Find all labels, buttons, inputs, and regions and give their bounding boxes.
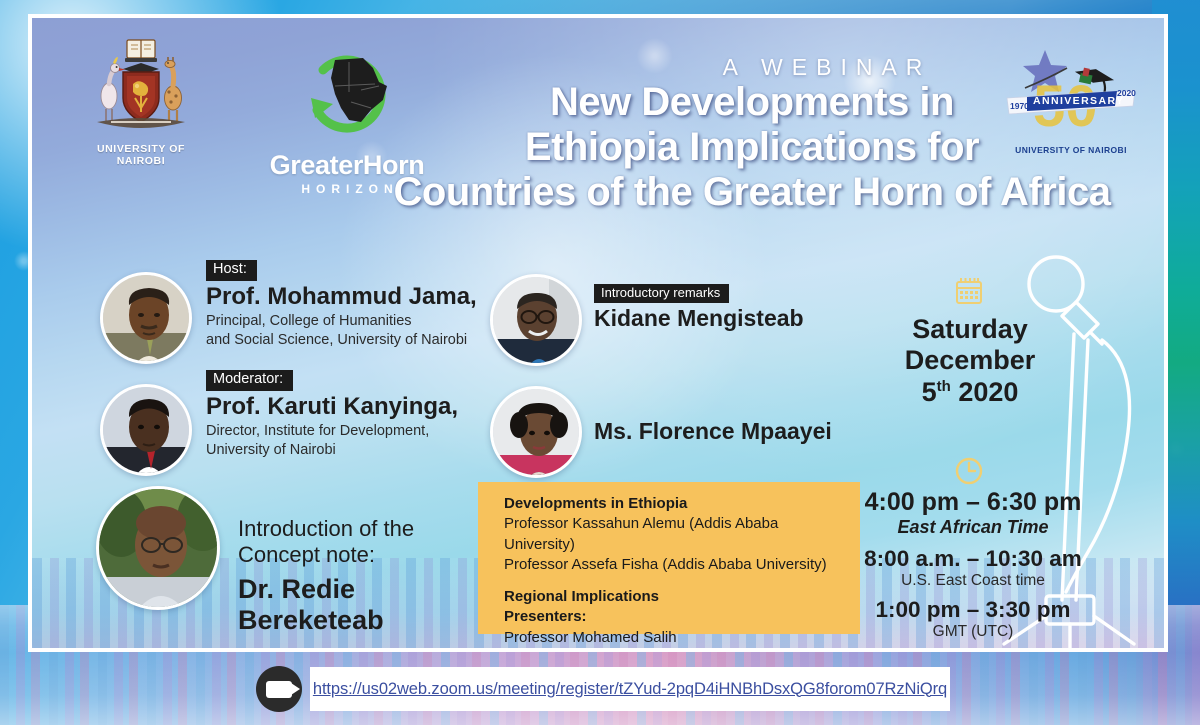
role-badge: Introductory remarks: [594, 284, 729, 303]
avatar: [100, 384, 192, 476]
poster-frame: UNIVERSITY OF NAIROBI GreaterHorn HORIZO…: [28, 14, 1168, 652]
event-date-month: December: [880, 345, 1060, 376]
time-slot-2: 8:00 a.m. – 10:30 am: [858, 546, 1088, 572]
programme-section-2-subtitle: Presenters:: [504, 607, 846, 627]
event-date-daynum-year: 5th 2020: [880, 377, 1060, 408]
university-of-nairobi-logo: UNIVERSITY OF NAIROBI: [80, 36, 202, 167]
programme-section-2-line-2: Professor Karuti Kanyinga: [504, 648, 846, 652]
time-zone-1: East African Time: [858, 517, 1088, 539]
camera-glyph: [266, 681, 292, 698]
speaker-affiliation-line-1: Principal, College of Humanities: [206, 312, 477, 330]
role-badge: Moderator:: [206, 370, 293, 391]
speaker-affiliation-line-2: University of Nairobi: [206, 441, 458, 459]
title-line-2: Ethiopia Implications for: [362, 125, 1142, 170]
programme-box: Developments in Ethiopia Professor Kassa…: [478, 482, 860, 634]
page-title: New Developments in Ethiopia Implication…: [362, 80, 1142, 216]
calendar-icon: [954, 276, 984, 306]
webinar-poster: UNIVERSITY OF NAIROBI GreaterHorn HORIZO…: [0, 0, 1200, 725]
speaker-name: Kidane Mengisteab: [594, 306, 804, 332]
zoom-video-icon: [256, 666, 302, 712]
time-zone-2: U.S. East Coast time: [858, 572, 1088, 591]
speaker-name: Prof. Mohammud Jama,: [206, 284, 477, 311]
event-date: Saturday December 5th 2020: [880, 314, 1060, 408]
programme-section-2-line-1: Professor Mohamed Salih: [504, 628, 846, 648]
speaker-florence-text: Ms. Florence Mpaayei: [594, 416, 832, 445]
speaker-affiliation-line-2: and Social Science, University of Nairob…: [206, 331, 477, 349]
clock-icon: [954, 456, 984, 486]
time-slot-1: 4:00 pm – 6:30 pm: [858, 488, 1088, 517]
speaker-host-text: Host: Prof. Mohammud Jama, Principal, Co…: [206, 260, 477, 349]
title-line-1: New Developments in: [550, 80, 954, 124]
time-slot-3: 1:00 pm – 3:30 pm: [858, 597, 1088, 623]
event-date-day: Saturday: [880, 314, 1060, 345]
registration-url-bar[interactable]: https://us02web.zoom.us/meeting/register…: [310, 667, 950, 711]
speaker-moderator-text: Moderator: Prof. Karuti Kanyinga, Direct…: [206, 370, 458, 459]
speaker-name: Ms. Florence Mpaayei: [594, 419, 832, 445]
concept-note-text: Introduction of the Concept note: Dr. Re…: [238, 516, 488, 636]
role-badge: Host:: [206, 260, 257, 281]
event-date-ordinal: th: [937, 378, 951, 395]
avatar: [96, 486, 220, 610]
programme-section-1-line-1: Professor Kassahun Alemu (Addis Ababa Un…: [504, 514, 846, 555]
event-times: 4:00 pm – 6:30 pm East African Time 8:00…: [858, 488, 1088, 641]
event-date-number: 5: [922, 377, 937, 407]
programme-section-1-title: Developments in Ethiopia: [504, 494, 846, 514]
speaker-introductory-text: Introductory remarks Kidane Mengisteab: [594, 284, 804, 332]
avatar: [490, 386, 582, 478]
concept-note-lead-line-1: Introduction of the: [238, 516, 488, 542]
speaker-name: Prof. Karuti Kanyinga,: [206, 394, 458, 421]
avatar: [100, 272, 192, 364]
avatar: [490, 274, 582, 366]
title-line-3: Countries of the Greater Horn of Africa: [362, 170, 1142, 215]
university-crest-icon: [89, 36, 193, 140]
speaker-affiliation-line-1: Director, Institute for Development,: [206, 422, 458, 440]
event-date-year: 2020: [958, 377, 1018, 407]
registration-url-text[interactable]: https://us02web.zoom.us/meeting/register…: [313, 680, 947, 699]
time-zone-3: GMT (UTC): [858, 623, 1088, 642]
concept-note-speaker-name: Dr. Redie Bereketeab: [238, 574, 488, 636]
concept-note-lead-line-2: Concept note:: [238, 542, 488, 568]
university-logo-label: UNIVERSITY OF NAIROBI: [80, 143, 202, 167]
webinar-kicker: A WEBINAR: [592, 54, 1062, 81]
programme-spacer: [504, 575, 846, 587]
programme-section-1-line-2: Professor Assefa Fisha (Addis Ababa Univ…: [504, 555, 846, 575]
programme-section-2-title: Regional Implications: [504, 587, 846, 607]
